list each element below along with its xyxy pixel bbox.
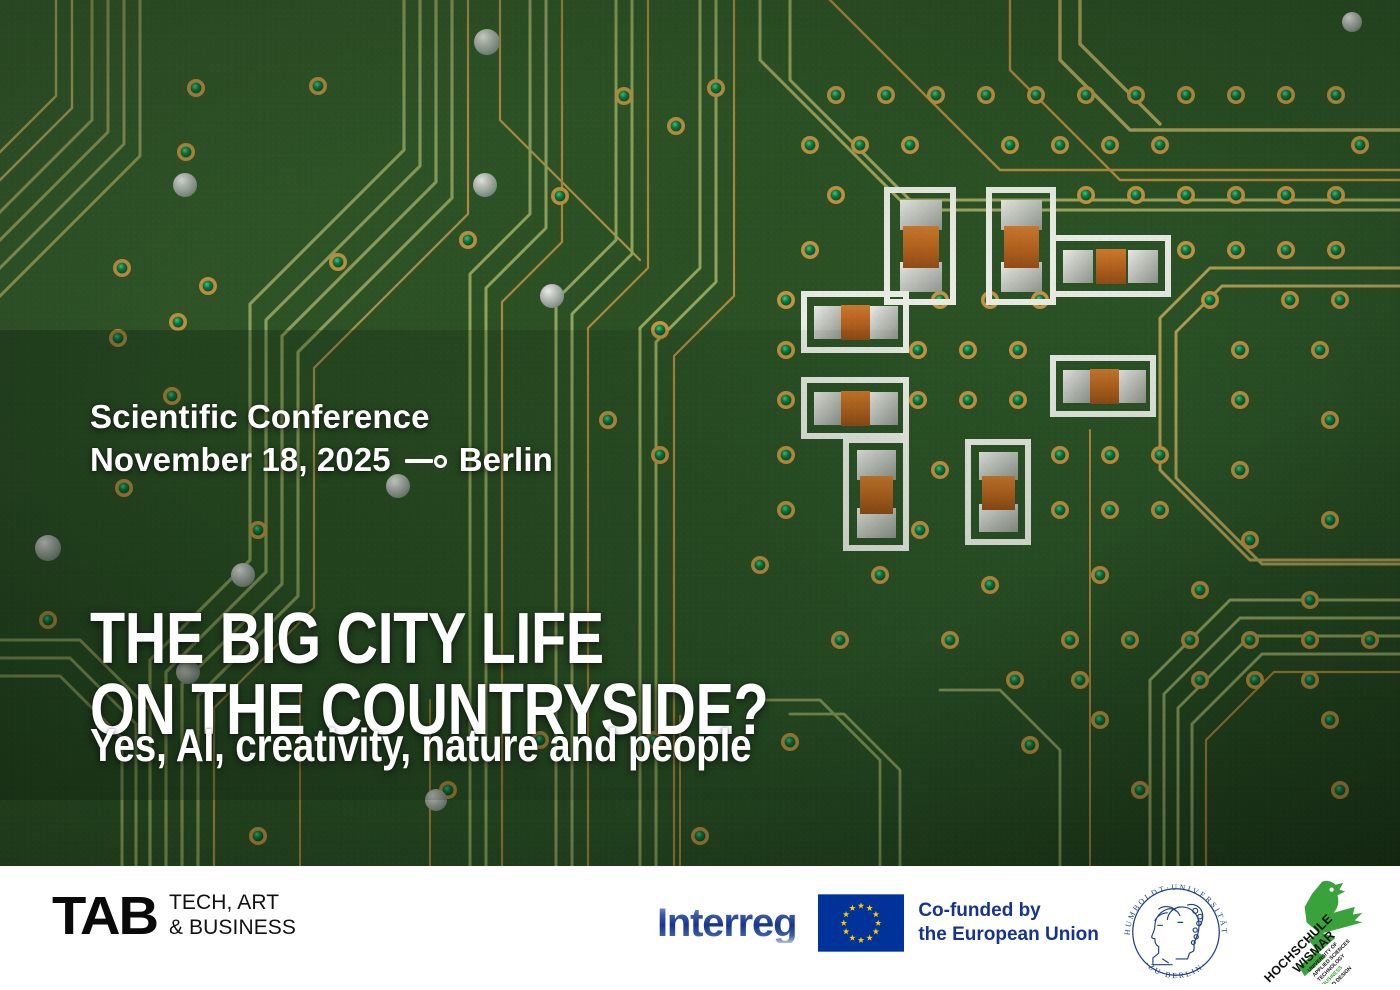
hochschule-wismar-logo-icon: HOCHSCHULE WISMAR UNIVERSITY OF APPLIED … xyxy=(1262,878,1382,984)
tab-wordmark: TAB xyxy=(52,889,157,943)
event-city: Berlin xyxy=(459,439,553,482)
humboldt-seal-icon: HUMBOLDT·UNIVERSITÄT ·ZU BERLIN· xyxy=(1118,882,1234,982)
eu-cofunded-line2: the European Union xyxy=(918,923,1099,947)
logo-interreg-eu: Interreg xyxy=(657,894,1099,952)
subtitle-text: Yes, AI, creativity, nature and people xyxy=(90,722,930,769)
footer-logo-bar: TAB TECH, ART & BUSINESS Interreg xyxy=(0,866,1400,990)
logo-humboldt-universitaet: HUMBOLDT·UNIVERSITÄT ·ZU BERLIN· xyxy=(1118,882,1234,982)
eu-flag-icon xyxy=(818,894,904,952)
event-date-location: November 18, 2025 Berlin xyxy=(90,439,850,482)
event-meta: Scientific Conference November 18, 2025 … xyxy=(90,396,850,482)
headline-line-1: THE BIG CITY LIFE xyxy=(90,604,890,675)
page-subtitle: Yes, AI, creativity, nature and people xyxy=(90,722,1090,769)
line-circle-icon xyxy=(405,455,447,468)
event-date: November 18, 2025 xyxy=(90,439,391,482)
two-profile-portraits-icon xyxy=(1152,904,1203,964)
logo-tab: TAB TECH, ART & BUSINESS xyxy=(52,889,296,943)
tab-tagline: TECH, ART & BUSINESS xyxy=(169,891,296,941)
logo-hochschule-wismar: HOCHSCHULE WISMAR UNIVERSITY OF APPLIED … xyxy=(1262,878,1382,984)
eu-cofunded-text: Co-funded by the European Union xyxy=(918,899,1099,948)
conference-poster: Scientific Conference November 18, 2025 … xyxy=(0,0,1400,990)
humboldt-seal-top-text: HUMBOLDT·UNIVERSITÄT xyxy=(1123,883,1230,936)
hero-circuit-board-image: Scientific Conference November 18, 2025 … xyxy=(0,0,1400,866)
logo-eu-cofunded: Co-funded by the European Union xyxy=(818,894,1099,952)
tab-tagline-line2: & BUSINESS xyxy=(169,916,296,941)
tab-tagline-line1: TECH, ART xyxy=(169,891,296,916)
event-type-label: Scientific Conference xyxy=(90,396,850,439)
eu-cofunded-line1: Co-funded by xyxy=(918,899,1099,923)
interreg-wordmark: Interreg xyxy=(657,903,796,943)
